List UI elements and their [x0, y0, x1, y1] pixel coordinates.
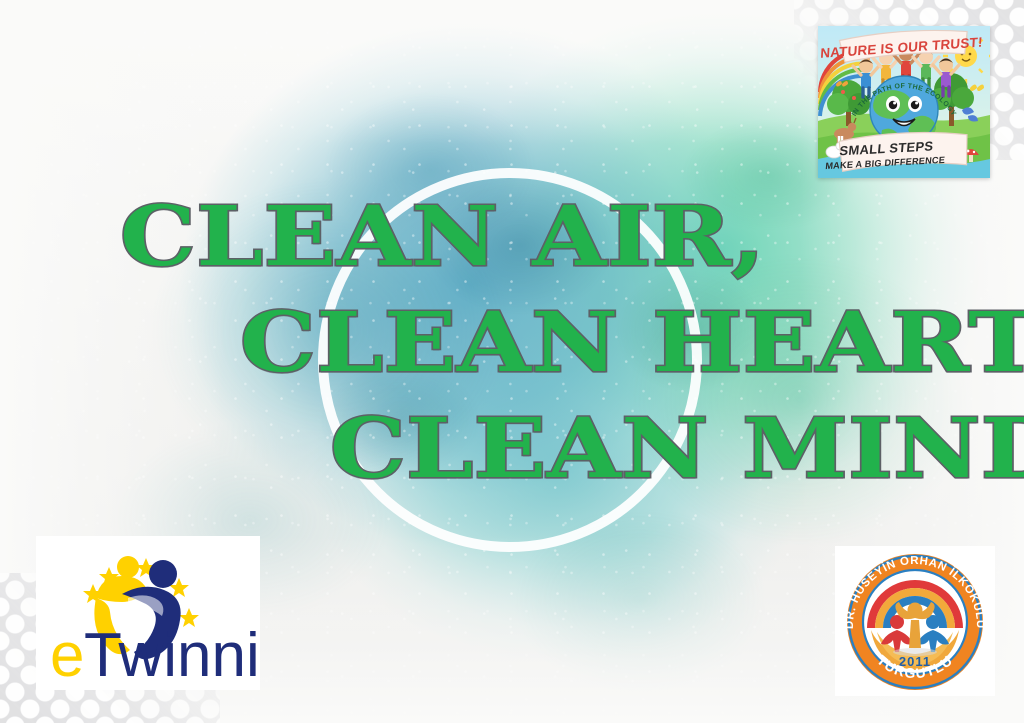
svg-text:Twinning: Twinning — [84, 621, 260, 690]
svg-text:e: e — [50, 621, 84, 690]
nature-is-our-trust-logo: IN THE PATH OF THE ECOLOGY NATURE IS OUR… — [818, 26, 990, 178]
poster-canvas: CLEAN AIR, CLEAN HEARTS, CLEAN MINDS — [0, 0, 1024, 723]
etwinning-logo: e Twinning e Twinning — [36, 536, 260, 690]
white-circle-ring — [318, 168, 702, 552]
school-emblem-logo: 2011 DR. HÜSEYİN ORHAN İLKOKULU TURGUTLU… — [835, 546, 995, 696]
